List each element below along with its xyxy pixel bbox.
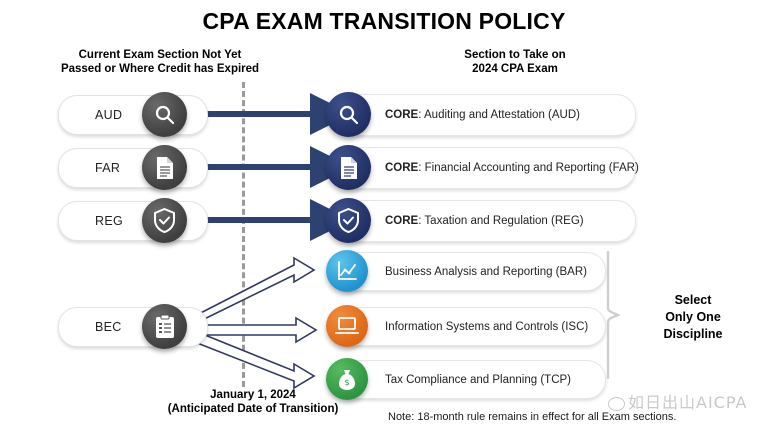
current-section-label: BEC <box>59 320 122 334</box>
diagram-canvas: CPA EXAM TRANSITION POLICY Current Exam … <box>0 0 768 430</box>
discipline-label: Business Analysis and Reporting (BAR) <box>333 266 587 278</box>
right-column-header: Section to Take on 2024 CPA Exam <box>390 48 640 76</box>
transition-date-line2: (Anticipated Date of Transition) <box>118 402 388 416</box>
select-line2: Only One <box>628 309 758 326</box>
select-line1: Select <box>628 292 758 309</box>
left-header-line2: Passed or Where Credit has Expired <box>20 62 300 76</box>
left-header-line1: Current Exam Section Not Yet <box>20 48 300 62</box>
page-title: CPA EXAM TRANSITION POLICY <box>0 8 768 35</box>
svg-text:$: $ <box>344 378 349 387</box>
core-prefix: CORE <box>385 109 418 121</box>
shield-check-icon <box>142 198 187 243</box>
line-chart-icon <box>326 250 368 292</box>
shield-check-icon <box>326 198 371 243</box>
discipline-isc[interactable]: Information Systems and Controls (ISC) <box>332 307 606 346</box>
core-section-reg[interactable]: CORE: Taxation and Regulation (REG) <box>332 200 636 242</box>
watermark-text: 如日出山AICPA <box>628 393 747 412</box>
core-text: Taxation and Regulation (REG) <box>424 215 583 227</box>
core-prefix: CORE <box>385 162 418 174</box>
document-icon <box>326 145 371 190</box>
document-icon <box>142 145 187 190</box>
magnifier-icon <box>326 92 371 137</box>
core-prefix: CORE <box>385 215 418 227</box>
left-column-header: Current Exam Section Not Yet Passed or W… <box>20 48 300 76</box>
right-header-line1: Section to Take on <box>390 48 640 62</box>
transition-divider-line <box>242 82 245 387</box>
discipline-bar[interactable]: Business Analysis and Reporting (BAR) <box>332 252 606 291</box>
watermark-bubble-icon <box>608 397 625 411</box>
core-text: Financial Accounting and Reporting (FAR) <box>425 162 639 174</box>
core-section-label: CORE: Financial Accounting and Reporting… <box>333 162 639 174</box>
right-header-line2: 2024 CPA Exam <box>390 62 640 76</box>
transition-date-line1: January 1, 2024 <box>118 388 388 402</box>
current-section-label: AUD <box>59 108 122 122</box>
laptop-icon <box>326 305 368 347</box>
current-section-label: REG <box>59 214 123 228</box>
core-section-far[interactable]: CORE: Financial Accounting and Reporting… <box>332 147 636 189</box>
transition-date-caption: January 1, 2024 (Anticipated Date of Tra… <box>118 388 388 416</box>
core-section-aud[interactable]: CORE: Auditing and Attestation (AUD) <box>332 94 636 136</box>
select-line3: Discipline <box>628 326 758 343</box>
core-text: Auditing and Attestation (AUD) <box>424 109 580 121</box>
watermark: 如日出山AICPA <box>608 389 747 413</box>
discipline-label: Tax Compliance and Planning (TCP) <box>333 374 571 386</box>
current-section-label: FAR <box>59 161 120 175</box>
magnifier-icon <box>142 92 187 137</box>
discipline-label: Information Systems and Controls (ISC) <box>333 321 588 333</box>
clipboard-icon <box>142 304 187 349</box>
select-one-discipline-note: Select Only One Discipline <box>628 292 758 343</box>
